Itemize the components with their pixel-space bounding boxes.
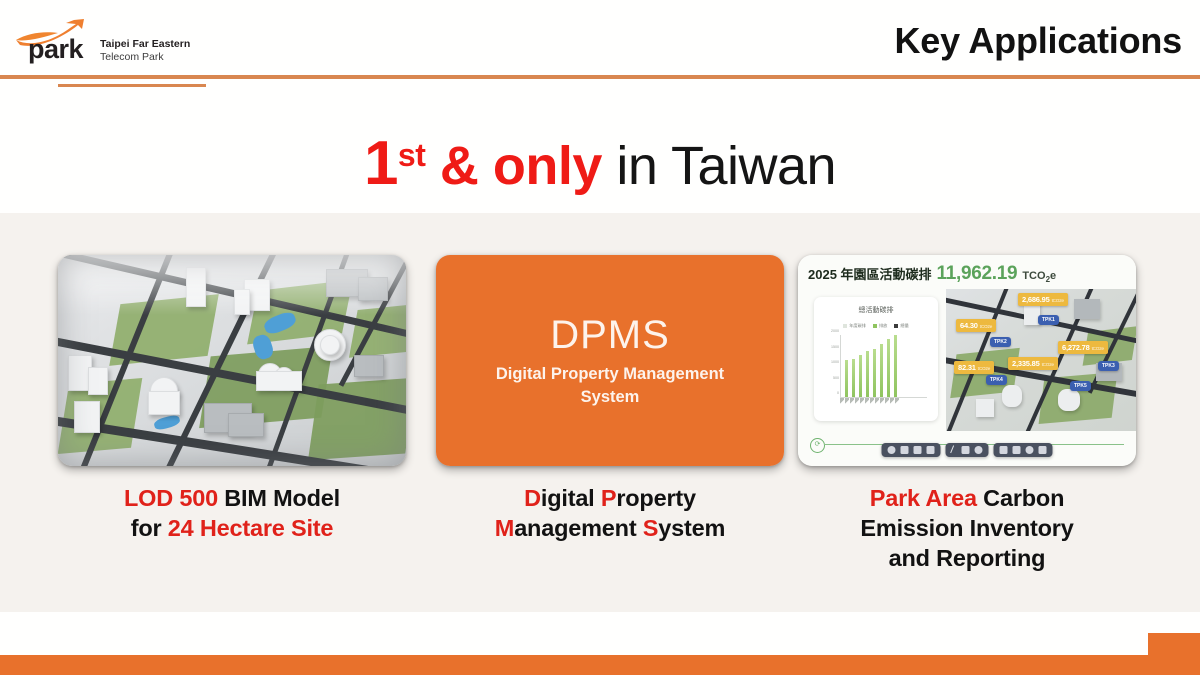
- caption-carbon: Park Area Carbon Emission Inventory and …: [798, 483, 1136, 573]
- caption-carbon-black1: Carbon: [977, 485, 1064, 511]
- bim-model-image[interactable]: [58, 255, 406, 466]
- caption-dpms-igital: igital: [541, 485, 601, 511]
- dashboard-unit: TCO2e: [1022, 270, 1056, 284]
- dashboard-3d-map[interactable]: 2,686.95tCO2e 64.30tCO2e 6,272.78tCO2e 2…: [946, 289, 1136, 431]
- slide-header: park Taipei Far Eastern Telecom Park Key…: [0, 0, 1200, 78]
- logo-underline: [58, 84, 206, 87]
- map-pin-1[interactable]: TPK2: [990, 337, 1011, 347]
- logo-subtitle: Taipei Far Eastern Telecom Park: [100, 38, 190, 64]
- ytick-1: 500: [833, 376, 839, 380]
- layers-icon[interactable]: [1013, 446, 1021, 454]
- header-divider: [0, 75, 1200, 79]
- caption-carbon-black3: and Reporting: [889, 545, 1046, 571]
- toolbar-group-measure[interactable]: [946, 443, 989, 457]
- map-pin-2[interactable]: TPK3: [1098, 361, 1119, 371]
- toolbar-group-model[interactable]: [994, 443, 1053, 457]
- carbon-dashboard: 2025 年園區活動碳排 11,962.19 TCO2e 總活動碳排 年度碳排 …: [798, 255, 1136, 466]
- logo-subtitle-line2: Telecom Park: [100, 51, 190, 64]
- bar-5: [880, 344, 883, 397]
- ruler-icon[interactable]: [950, 445, 958, 454]
- bar-1: [852, 359, 855, 397]
- legend-item-2: 總量: [894, 323, 908, 329]
- legend-item-1: 排放: [873, 323, 887, 329]
- camera-icon[interactable]: [927, 446, 935, 454]
- map-pin-3[interactable]: TPK4: [986, 375, 1007, 385]
- card-dpms[interactable]: DPMS Digital Property Management System …: [436, 255, 784, 466]
- carbon-dashboard-image[interactable]: 2025 年園區活動碳排 11,962.19 TCO2e 總活動碳排 年度碳排 …: [798, 255, 1136, 466]
- logo-wordmark: park: [28, 36, 83, 63]
- dashboard-toolbar[interactable]: [882, 443, 1053, 457]
- caption-carbon-black2: Emission Inventory: [860, 515, 1073, 541]
- slide: park Taipei Far Eastern Telecom Park Key…: [0, 0, 1200, 675]
- caption-bim-red1: LOD 500: [124, 485, 218, 511]
- caption-dpms-roperty: roperty: [616, 485, 696, 511]
- caption-dpms-m: M: [495, 515, 514, 541]
- dpms-tile-content: DPMS Digital Property Management System: [436, 255, 784, 466]
- bar-6: [887, 339, 890, 397]
- map-value-tag-3[interactable]: 2,335.85tCO2e: [1008, 357, 1058, 370]
- legend-item-0: 年度碳排: [843, 323, 866, 329]
- dpms-subtitle: Digital Property Management System: [475, 363, 745, 408]
- ytick-4: 2000: [831, 329, 839, 333]
- caption-dpms-p: P: [601, 485, 616, 511]
- dashboard-total-value: 11,962.19: [937, 263, 1018, 285]
- mini-chart-plot: 2000 1500 1000 500 0: [840, 335, 927, 398]
- area-icon[interactable]: [962, 446, 970, 454]
- bar-7: [894, 335, 897, 397]
- caption-bim-model: LOD 500 BIM Model for 24 Hectare Site: [58, 483, 406, 543]
- caption-dpms-d: D: [524, 485, 541, 511]
- mini-chart-xticks: [840, 398, 930, 407]
- ytick-3: 1500: [831, 345, 839, 349]
- map-value-tag-2[interactable]: 6,272.78tCO2e: [1058, 341, 1108, 354]
- map-value-tag-1[interactable]: 64.30tCO2e: [956, 319, 996, 332]
- tpark-logo: park Taipei Far Eastern Telecom Park: [14, 18, 214, 64]
- globe-icon[interactable]: [888, 446, 896, 454]
- bar-0: [845, 360, 848, 397]
- caption-dpms-anagement: anagement: [514, 515, 643, 541]
- caption-dpms: Digital Property Management System: [436, 483, 784, 543]
- card-carbon-dashboard[interactable]: 2025 年園區活動碳排 11,962.19 TCO2e 總活動碳排 年度碳排 …: [798, 255, 1146, 466]
- mini-chart-title: 總活動碳排: [814, 305, 938, 315]
- hand-icon[interactable]: [901, 446, 909, 454]
- pointer-icon[interactable]: [914, 446, 922, 454]
- footer-bar: [0, 655, 1200, 675]
- bar-4: [873, 349, 876, 397]
- map-pin-0[interactable]: TPK1: [1038, 315, 1059, 325]
- dpms-tile[interactable]: DPMS Digital Property Management System: [436, 255, 784, 466]
- headline-tail: in Taiwan: [602, 136, 836, 196]
- map-value-tag-0[interactable]: 2,686.95tCO2e: [1018, 293, 1068, 306]
- headline-ordinal: st: [398, 137, 425, 173]
- dashboard-header-label: 2025 年園區活動碳排: [808, 264, 932, 283]
- ytick-0: 0: [837, 391, 839, 395]
- dashboard-header: 2025 年園區活動碳排 11,962.19 TCO2e: [808, 263, 1056, 285]
- headline: 1st & only in Taiwan: [0, 128, 1200, 199]
- caption-dpms-ystem: ystem: [658, 515, 725, 541]
- card-bim-model[interactable]: LOD 500 BIM Model for 24 Hectare Site: [58, 255, 406, 466]
- bar-3: [866, 351, 869, 398]
- toolbar-group-view[interactable]: [882, 443, 941, 457]
- caption-bim-red2: 24 Hectare Site: [168, 515, 334, 541]
- dpms-title: DPMS: [550, 313, 670, 357]
- caption-bim-black1: BIM Model: [218, 485, 340, 511]
- gear-icon[interactable]: [1026, 446, 1034, 454]
- footer-corner-block: [1148, 633, 1200, 675]
- bim-aerial-scene: [58, 255, 406, 466]
- caption-dpms-s: S: [643, 515, 658, 541]
- map-pin-4[interactable]: TPK5: [1070, 381, 1091, 391]
- map-value-tag-4[interactable]: 82.31tCO2e: [954, 361, 994, 374]
- section-icon[interactable]: [975, 446, 983, 454]
- logo-subtitle-line1: Taipei Far Eastern: [100, 38, 190, 51]
- tree-icon[interactable]: [1000, 446, 1008, 454]
- caption-bim-black2: for: [131, 515, 168, 541]
- headline-emphasis: & only: [440, 136, 602, 196]
- bar-2: [859, 355, 862, 397]
- caption-carbon-red: Park Area: [870, 485, 977, 511]
- page-title: Key Applications: [894, 20, 1182, 62]
- timeline-replay-icon[interactable]: ⟳: [810, 438, 825, 453]
- mini-bar-chart[interactable]: 總活動碳排 年度碳排 排放 總量 2000 1500 1000 500 0: [814, 297, 938, 421]
- ytick-2: 1000: [831, 360, 839, 364]
- fullscreen-icon[interactable]: [1039, 446, 1047, 454]
- headline-number: 1: [364, 129, 398, 198]
- cards-row: LOD 500 BIM Model for 24 Hectare Site DP…: [0, 255, 1200, 595]
